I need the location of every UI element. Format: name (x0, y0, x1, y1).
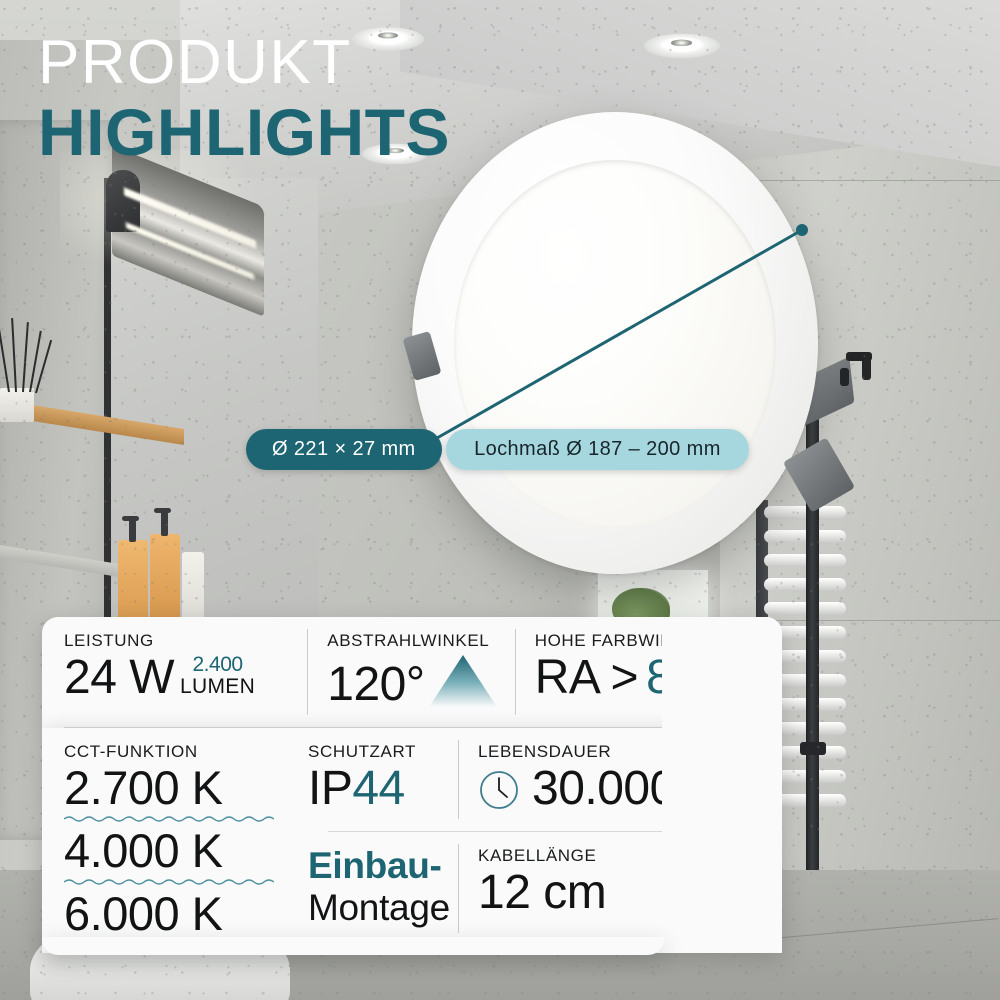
spec-cct-label: CCT-FUNKTION (64, 742, 308, 762)
spec-cable-label: KABELLÄNGE (478, 846, 760, 866)
spec-power: LEISTUNG 24 W 2.400 LUMEN (64, 617, 307, 727)
clock-icon (478, 769, 520, 811)
spec-beam-angle-value: 120° (327, 660, 424, 711)
spec-mounting-line-2: Montage (308, 887, 458, 930)
title-line-2: HIGHLIGHTS (38, 98, 450, 167)
title-line-1: PRODUKT (38, 32, 450, 94)
spec-power-value: 24 W (64, 653, 174, 704)
spec-cct-value-3: 6.000 K (64, 890, 308, 937)
spec-cri-prefix: RA > (535, 653, 638, 704)
beam-triangle-icon (427, 653, 499, 709)
spec-beam-angle-label: ABSTRAHLWINKEL (327, 631, 514, 651)
spec-mounting-line-1: Einbau- (308, 846, 458, 887)
spec-power-label: LEISTUNG (64, 631, 307, 651)
badge-cutout: Lochmaß Ø 187 – 200 mm (446, 429, 749, 470)
spec-protection-value-group: IP 44 (308, 764, 458, 815)
wavy-divider-icon (64, 814, 274, 823)
spec-beam-angle: ABSTRAHLWINKEL 120° (307, 617, 514, 727)
card-step-block (662, 617, 782, 843)
spec-protection: SCHUTZART IP 44 (308, 728, 458, 831)
spec-cable-value: 12 cm (478, 868, 760, 919)
spec-cct-value-1: 2.700 K (64, 764, 308, 811)
panel-outer-rim (412, 112, 818, 574)
spec-lumen-unit: LUMEN (180, 676, 255, 698)
spec-cable: KABELLÄNGE 12 cm (458, 832, 760, 945)
spec-card: LEISTUNG 24 W 2.400 LUMEN ABSTRAHLWINKEL… (42, 617, 782, 953)
wavy-divider-icon (64, 877, 274, 886)
page-title: PRODUKT HIGHLIGHTS (38, 32, 450, 167)
product-led-panel (412, 112, 818, 574)
spec-protection-label: SCHUTZART (308, 742, 458, 762)
spec-subrow-mounting-cable: Einbau- Montage KABELLÄNGE 12 cm (308, 832, 760, 945)
spec-protection-prefix: IP (308, 764, 352, 815)
panel-diffuser (454, 160, 776, 528)
spec-beam-angle-value-group: 120° (327, 653, 514, 711)
dimension-badges: Ø 221 × 27 mm Lochmaß Ø 187 – 200 mm (140, 420, 749, 470)
spec-protection-value: 44 (352, 764, 404, 815)
card-bottom-cap (42, 937, 664, 955)
spec-cct-value-2: 4.000 K (64, 827, 308, 874)
spec-power-value-group: 24 W 2.400 LUMEN (64, 653, 307, 704)
badge-dimension: Ø 221 × 27 mm (246, 429, 442, 470)
spec-lumen-value: 2.400 (193, 654, 243, 676)
spec-cct: CCT-FUNKTION 2.700 K 4.000 K 6.000 K (64, 728, 308, 953)
spec-lumen: 2.400 LUMEN (180, 654, 255, 698)
spec-mounting: Einbau- Montage (308, 832, 458, 945)
